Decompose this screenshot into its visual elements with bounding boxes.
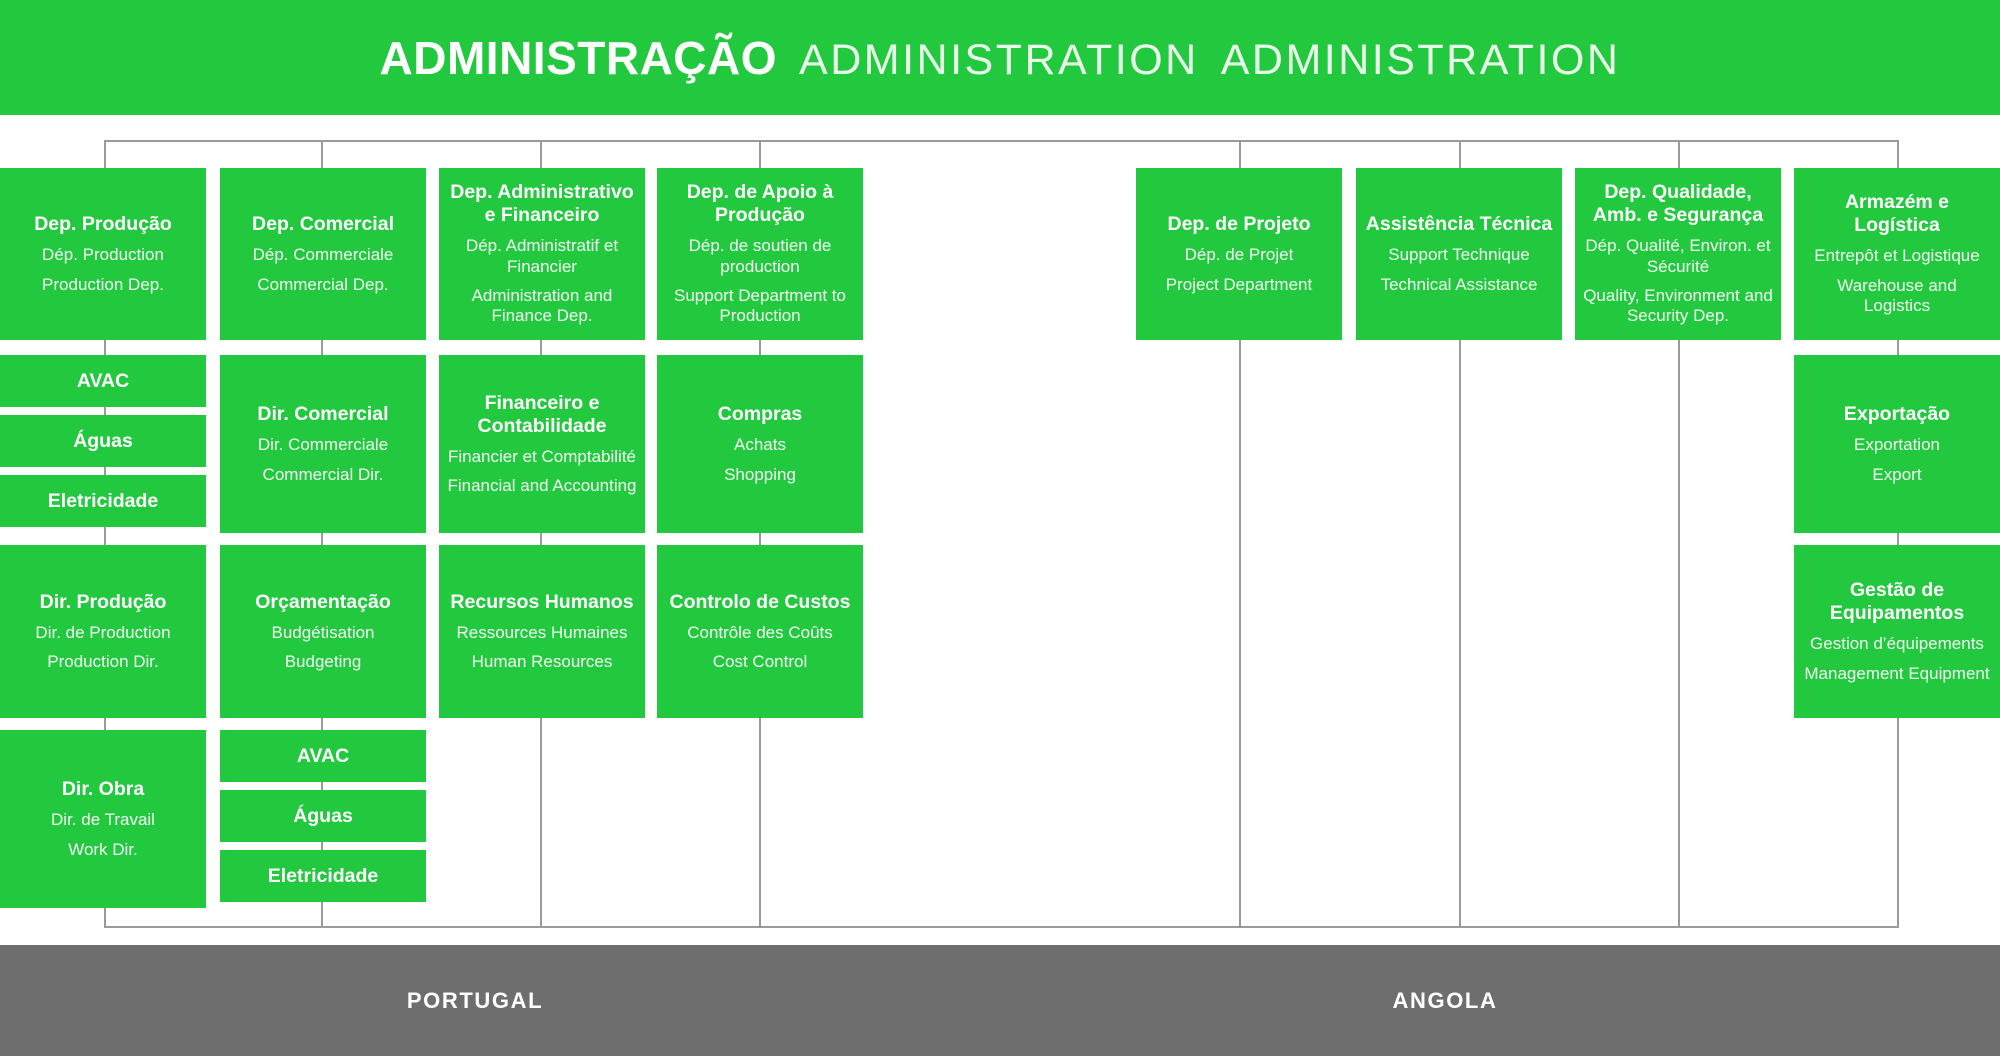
node-title-fr: Dép. de Projet bbox=[1185, 245, 1294, 265]
node-compras[interactable]: Compras Achats Shopping bbox=[657, 355, 863, 533]
node-title-fr: Dir. de Travail bbox=[51, 810, 155, 830]
node-eletricidade-producao[interactable]: Eletricidade bbox=[0, 475, 206, 527]
node-recursos-humanos[interactable]: Recursos Humanos Ressources Humaines Hum… bbox=[439, 545, 645, 718]
node-title-fr: Dép. Administratif et Financier bbox=[447, 236, 637, 277]
node-title-en: Technical Assistance bbox=[1381, 275, 1538, 295]
node-title-pt: Eletricidade bbox=[48, 490, 159, 513]
node-title-fr: Dép. Qualité, Environ. et Sécurité bbox=[1583, 236, 1773, 277]
node-dir-comercial[interactable]: Dir. Comercial Dir. Commerciale Commerci… bbox=[220, 355, 426, 533]
node-title-pt: AVAC bbox=[297, 745, 349, 768]
node-title-fr: Dép. Commerciale bbox=[253, 245, 394, 265]
connector-horizontal-bottom bbox=[105, 926, 1898, 928]
node-aguas-comercial[interactable]: Águas bbox=[220, 790, 426, 842]
node-title-pt: Compras bbox=[718, 403, 803, 426]
node-title-pt: Recursos Humanos bbox=[450, 591, 633, 614]
node-avac-comercial[interactable]: AVAC bbox=[220, 730, 426, 782]
node-title-en: Warehouse and Logistics bbox=[1802, 276, 1992, 317]
node-title-en: Commercial Dep. bbox=[257, 275, 388, 295]
node-title-pt: Financeiro e Contabilidade bbox=[447, 392, 637, 438]
node-exportacao[interactable]: Exportação Exportation Export bbox=[1794, 355, 2000, 533]
header-title-group: ADMINISTRAÇÃO ADMINISTRATION ADMINISTRAT… bbox=[380, 31, 1621, 85]
node-dep-administrativo-financeiro[interactable]: Dep. Administrativo e Financeiro Dép. Ad… bbox=[439, 168, 645, 340]
node-title-pt: AVAC bbox=[77, 370, 129, 393]
node-title-en: Commercial Dir. bbox=[263, 465, 384, 485]
node-aguas-producao[interactable]: Águas bbox=[0, 415, 206, 467]
node-eletricidade-comercial[interactable]: Eletricidade bbox=[220, 850, 426, 902]
chart-header-banner: ADMINISTRAÇÃO ADMINISTRATION ADMINISTRAT… bbox=[0, 0, 2000, 115]
node-title-en: Shopping bbox=[724, 465, 796, 485]
node-title-en: Production Dep. bbox=[42, 275, 164, 295]
node-title-pt: Dir. Produção bbox=[40, 591, 167, 614]
node-dir-producao[interactable]: Dir. Produção Dir. de Production Product… bbox=[0, 545, 206, 718]
node-title-en: Project Department bbox=[1166, 275, 1312, 295]
node-title-pt: Dep. de Projeto bbox=[1167, 213, 1310, 236]
node-title-en: Export bbox=[1872, 465, 1921, 485]
node-dir-obra[interactable]: Dir. Obra Dir. de Travail Work Dir. bbox=[0, 730, 206, 908]
page-title-pt: ADMINISTRAÇÃO bbox=[380, 31, 777, 85]
node-title-pt: Dep. Administrativo e Financeiro bbox=[447, 181, 637, 227]
node-orcamentacao[interactable]: Orçamentação Budgétisation Budgeting bbox=[220, 545, 426, 718]
node-title-en: Human Resources bbox=[472, 652, 613, 672]
node-title-fr: Dir. de Production bbox=[35, 623, 170, 643]
connector-horizontal-main bbox=[105, 140, 1898, 142]
node-title-pt: Dep. Comercial bbox=[252, 213, 394, 236]
node-title-pt: Águas bbox=[293, 805, 353, 828]
node-title-fr: Entrepôt et Logistique bbox=[1814, 246, 1979, 266]
node-title-pt: Dir. Comercial bbox=[257, 403, 388, 426]
node-armazem-logistica[interactable]: Armazém e Logística Entrepôt et Logistiq… bbox=[1794, 168, 2000, 340]
node-title-fr: Ressources Humaines bbox=[456, 623, 627, 643]
node-title-en: Management Equipment bbox=[1804, 664, 1989, 684]
footer-label-angola: ANGOLA bbox=[1300, 988, 1590, 1014]
node-dep-qualidade-ambiente-seguranca[interactable]: Dep. Qualidade, Amb. e Segurança Dép. Qu… bbox=[1575, 168, 1781, 340]
node-title-en: Work Dir. bbox=[68, 840, 138, 860]
footer-bar: PORTUGAL ANGOLA bbox=[0, 945, 2000, 1056]
node-title-en: Production Dir. bbox=[47, 652, 159, 672]
node-gestao-equipamentos[interactable]: Gestão de Equipamentos Gestion d’équipem… bbox=[1794, 545, 2000, 718]
node-title-pt: Controlo de Custos bbox=[670, 591, 851, 614]
node-dep-producao[interactable]: Dep. Produção Dép. Production Production… bbox=[0, 168, 206, 340]
node-dep-projeto[interactable]: Dep. de Projeto Dép. de Projet Project D… bbox=[1136, 168, 1342, 340]
node-title-fr: Exportation bbox=[1854, 435, 1940, 455]
node-title-fr: Achats bbox=[734, 435, 786, 455]
node-title-en: Quality, Environment and Security Dep. bbox=[1583, 286, 1773, 327]
node-assistencia-tecnica[interactable]: Assistência Técnica Support Technique Te… bbox=[1356, 168, 1562, 340]
node-title-pt: Orçamentação bbox=[255, 591, 390, 614]
node-title-pt: Exportação bbox=[1844, 403, 1950, 426]
node-title-fr: Budgétisation bbox=[271, 623, 374, 643]
node-title-fr: Dép. Production bbox=[42, 245, 164, 265]
node-dep-apoio-producao[interactable]: Dep. de Apoio à Produção Dép. de soutien… bbox=[657, 168, 863, 340]
node-title-en: Administration and Finance Dep. bbox=[447, 286, 637, 327]
node-title-pt: Águas bbox=[73, 430, 133, 453]
node-title-fr: Gestion d’équipements bbox=[1810, 634, 1984, 654]
node-title-fr: Dép. de soutien de production bbox=[665, 236, 855, 277]
page-title-fr: ADMINISTRATION bbox=[799, 36, 1199, 85]
node-title-en: Support Department to Production bbox=[665, 286, 855, 327]
node-title-pt: Eletricidade bbox=[268, 865, 379, 888]
node-title-fr: Financier et Comptabilité bbox=[448, 447, 636, 467]
node-title-en: Budgeting bbox=[285, 652, 362, 672]
node-controlo-custos[interactable]: Controlo de Custos Contrôle des Coûts Co… bbox=[657, 545, 863, 718]
node-title-pt: Armazém e Logística bbox=[1802, 191, 1992, 237]
node-title-pt: Dep. Qualidade, Amb. e Segurança bbox=[1583, 181, 1773, 227]
org-chart: ADMINISTRAÇÃO ADMINISTRATION ADMINISTRAT… bbox=[0, 0, 2000, 1056]
node-title-fr: Contrôle des Coûts bbox=[687, 623, 833, 643]
node-financeiro-contabilidade[interactable]: Financeiro e Contabilidade Financier et … bbox=[439, 355, 645, 533]
node-title-pt: Assistência Técnica bbox=[1366, 213, 1552, 236]
node-title-pt: Dep. de Apoio à Produção bbox=[665, 181, 855, 227]
footer-label-portugal: PORTUGAL bbox=[330, 988, 620, 1014]
node-title-fr: Dir. Commerciale bbox=[258, 435, 388, 455]
node-avac-producao[interactable]: AVAC bbox=[0, 355, 206, 407]
node-title-pt: Gestão de Equipamentos bbox=[1802, 579, 1992, 625]
page-title-en: ADMINISTRATION bbox=[1221, 36, 1621, 85]
node-title-en: Cost Control bbox=[713, 652, 807, 672]
node-dep-comercial[interactable]: Dep. Comercial Dép. Commerciale Commerci… bbox=[220, 168, 426, 340]
node-title-pt: Dir. Obra bbox=[62, 778, 144, 801]
node-title-fr: Support Technique bbox=[1388, 245, 1529, 265]
node-title-en: Financial and Accounting bbox=[447, 476, 636, 496]
node-title-pt: Dep. Produção bbox=[34, 213, 172, 236]
